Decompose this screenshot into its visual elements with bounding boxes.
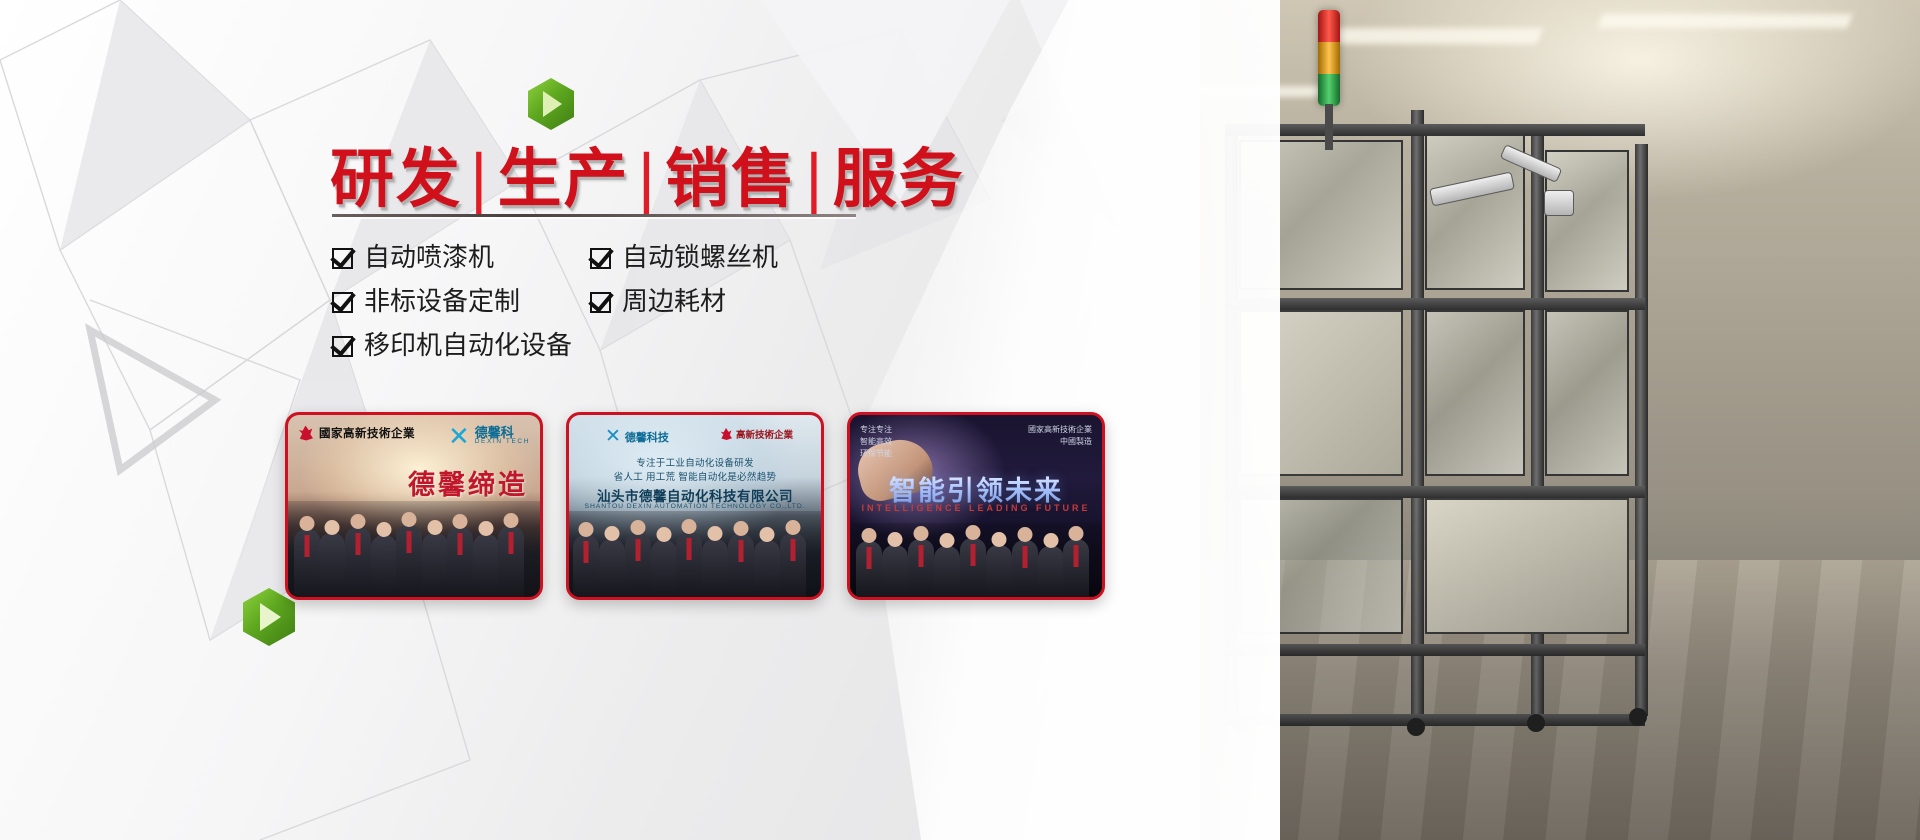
checkbox-checked-icon: [332, 336, 353, 357]
tag: 國家高新技術企業: [1028, 424, 1092, 436]
checklist-row: 自动喷漆机 自动锁螺丝机: [332, 236, 852, 280]
x-swoosh-icon: ✕: [605, 427, 621, 446]
headline-separator: |: [797, 143, 833, 217]
stack-light-pole: [1325, 104, 1333, 150]
photo-card-exhibition-booth[interactable]: ✕ 德馨科技 高新技術企業 专注于工业自动化设备研发 省人工 用工荒 智能自动化…: [566, 412, 824, 600]
card-line-2: 省人工 用工荒 智能自动化是必然趋势: [569, 469, 821, 483]
company-name-cn: 汕头市德馨自动化科技有限公司: [569, 485, 821, 505]
logo-name-cn: 德馨科技: [625, 429, 669, 445]
checkbox-checked-icon: [590, 248, 611, 269]
list-item-label: 移印机自动化设备: [364, 333, 572, 359]
company-logo: ✕ 德馨科技: [605, 427, 669, 446]
card-badge: 國家高新技術企業: [298, 425, 415, 441]
list-item-label: 非标设备定制: [364, 289, 520, 315]
ceiling-lamp: [1598, 14, 1853, 28]
company-logo: ✕ 德馨科 DEXIN TECH: [448, 423, 530, 449]
x-swoosh-icon: ✕: [448, 423, 470, 449]
logo-name-en: DEXIN TECH: [475, 439, 530, 446]
green-hexagon-play-icon: [528, 78, 574, 130]
people-group: [850, 523, 1102, 597]
tag: 智能高效: [860, 436, 892, 448]
title-divider: [332, 214, 856, 217]
flame-icon: [720, 428, 732, 440]
company-name-en: SHANTOU DEXIN AUTOMATION TECHNOLOGY CO.,…: [569, 503, 821, 510]
card-banner-text: 德馨缔造: [408, 463, 528, 502]
logo-name-cn: 德馨科: [475, 426, 530, 440]
promo-banner: 研发|生产|销售|服务 自动喷漆机 自动锁螺丝机 非标设备定制 周边耗材: [0, 0, 1920, 840]
list-item: 移印机自动化设备: [332, 324, 572, 368]
headline-word-1: 研发: [330, 143, 462, 217]
list-item-label: 自动锁螺丝机: [622, 245, 778, 271]
badge-label: 國家高新技術企業: [319, 425, 415, 441]
checklist-row: 非标设备定制 周边耗材: [332, 280, 852, 324]
headline-word-2: 生产: [498, 143, 630, 217]
people-group: [288, 501, 540, 597]
people-group: [569, 511, 821, 597]
list-item-label: 周边耗材: [622, 289, 726, 315]
flame-icon: [298, 426, 313, 441]
list-item-label: 自动喷漆机: [364, 245, 494, 271]
card-badge: 高新技術企業: [720, 427, 793, 441]
page-title: 研发|生产|销售|服务: [330, 128, 965, 220]
badge-label: 高新技術企業: [736, 427, 793, 441]
tag: 中國製造: [1028, 436, 1092, 448]
checkbox-checked-icon: [590, 292, 611, 313]
headline-separator: |: [462, 143, 498, 217]
card-tags-right: 國家高新技術企業 中國製造: [1028, 424, 1092, 448]
photo-card-gallery: 國家高新技術企業 ✕ 德馨科 DEXIN TECH 德馨缔造: [285, 412, 1105, 600]
checkbox-checked-icon: [332, 248, 353, 269]
headline-word-3: 销售: [665, 143, 797, 217]
feature-checklist: 自动喷漆机 自动锁螺丝机 非标设备定制 周边耗材 移印机自动化设备: [332, 236, 852, 368]
checkbox-checked-icon: [332, 292, 353, 313]
photo-card-award-ceremony[interactable]: 國家高新技術企業 ✕ 德馨科 DEXIN TECH 德馨缔造: [285, 412, 543, 600]
list-item: 自动锁螺丝机: [590, 236, 850, 280]
card-tags-left: 专注专注 智能高效 环保节能: [860, 424, 892, 460]
checklist-row: 移印机自动化设备: [332, 324, 852, 368]
list-item: 非标设备定制: [332, 280, 590, 324]
list-item: 周边耗材: [590, 280, 850, 324]
list-item: 自动喷漆机: [332, 236, 590, 280]
headline-word-4: 服务: [833, 143, 965, 217]
tag: 环保节能: [860, 448, 892, 460]
ceiling-lamp: [1327, 28, 1543, 44]
photo-card-conference-stage[interactable]: 专注专注 智能高效 环保节能 國家高新技術企業 中國製造 智能引领未来 INTE…: [847, 412, 1105, 600]
robot-arm: [1430, 150, 1580, 230]
stack-light-icon: [1318, 10, 1340, 106]
card-title-en: INTELLIGENCE LEADING FUTURE: [850, 503, 1102, 513]
tag: 专注专注: [860, 424, 892, 436]
card-line-1: 专注于工业自动化设备研发: [569, 455, 821, 469]
headline-separator: |: [630, 143, 666, 217]
